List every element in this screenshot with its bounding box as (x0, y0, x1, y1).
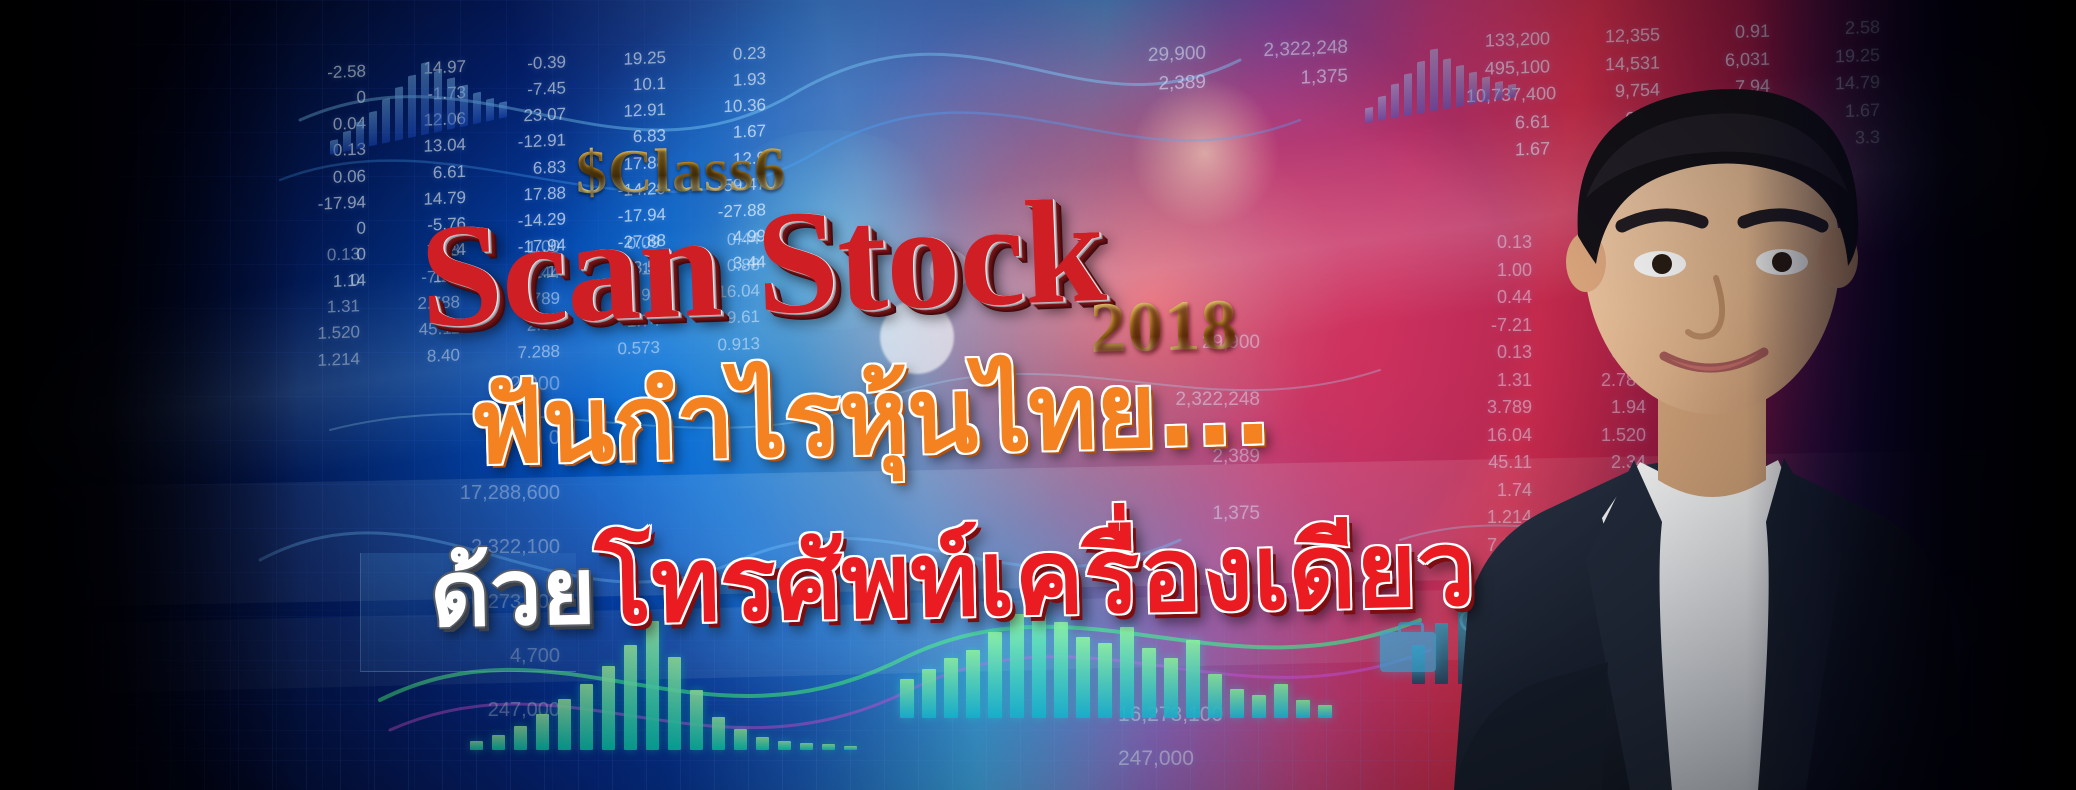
bar (395, 86, 403, 141)
quote-value: 1.94 (1558, 395, 1646, 421)
quote-value: 1.74 (586, 309, 660, 336)
bar (1252, 695, 1266, 718)
background-light-sweep (0, 0, 2076, 790)
bar (580, 684, 593, 750)
quote-value: -17.94 (592, 203, 666, 230)
quote-value: 1.67 (692, 120, 766, 147)
quote-value: 0.44 (486, 261, 560, 288)
quote-value: -59.47 (692, 172, 766, 199)
quote-value: 11.7 (1686, 129, 1770, 157)
quote-value: 7.288 (486, 339, 560, 366)
quote-value: 10.9 (392, 264, 466, 291)
quote-value: 7.94 (1686, 74, 1770, 102)
quote-value: 1.94 (586, 283, 660, 310)
bar (343, 130, 351, 152)
background-gradient (0, 0, 2076, 790)
bar (473, 92, 481, 125)
bar (1230, 689, 1244, 718)
quote-value: 29,900 (1110, 330, 1260, 357)
bar (1495, 81, 1503, 101)
quote-value: 3.789 (1444, 395, 1532, 421)
quote-value: 14.79 (1796, 70, 1880, 98)
quote-value: 1.67 (1796, 97, 1880, 125)
quote-value: 45.11 (386, 317, 460, 344)
bar (1318, 705, 1332, 718)
quote-value: -6.24 (392, 238, 466, 265)
course-code-title: $Class6 (575, 134, 786, 209)
quote-value: 16.04 (686, 279, 760, 306)
quote-value: -1.73 (392, 81, 466, 108)
quote-value: 0.913 (686, 331, 760, 358)
quote-value: 9.61 (686, 305, 760, 332)
quote-value: 10.1 (592, 72, 666, 99)
bar (966, 650, 980, 718)
bar (646, 621, 659, 750)
quote-value: 0.06 (292, 164, 366, 191)
quote-value: 0.88 (1558, 340, 1646, 366)
bar (558, 699, 571, 750)
bar (408, 74, 416, 138)
quote-value: 247,000 (1118, 744, 1328, 774)
quote-value: 2.34 (1558, 450, 1646, 476)
bar (668, 657, 681, 750)
quote-value: -7.21 (386, 265, 460, 292)
glow-blob-cyan (700, 130, 960, 330)
bokeh-circle-small (930, 250, 970, 290)
glow-blob-warm (1130, 78, 1280, 228)
quote-value: -27.88 (692, 198, 766, 225)
quote-value: 0 (286, 268, 360, 295)
quote-value: 14.79 (392, 185, 466, 212)
chart-ticker-histogram-top-right (1365, 27, 1516, 124)
bar (1186, 640, 1200, 718)
quote-value: 0.04 (292, 112, 366, 139)
bar (800, 743, 813, 751)
quote-value: 1.214 (1444, 505, 1532, 531)
quote-value: 0.91 (1686, 19, 1770, 47)
quote-value: 16,273,100 (1118, 700, 1328, 730)
quote-value: 6.61 (392, 159, 466, 186)
headline-thai-line2-main: โทรศัพท์เครื่องเดียว (594, 507, 1476, 647)
quote-value: 0.13 (286, 242, 360, 269)
vignette (0, 0, 2076, 790)
quote-value: 1.14 (492, 259, 566, 286)
background-grid (0, 0, 2076, 790)
quote-value: 0.44 (1444, 285, 1532, 311)
bar (1208, 674, 1222, 718)
bar (421, 62, 429, 135)
volume-figures-center-right: 29,9002,322,2482,3891,375 (1110, 330, 1260, 528)
bar (1142, 648, 1156, 718)
quote-value: -27.88 (592, 229, 666, 256)
bar (382, 98, 390, 143)
background-floor-grid (0, 460, 2076, 790)
quote-value: 0.573 (586, 335, 660, 362)
bar (1296, 700, 1310, 718)
bar (536, 714, 549, 750)
quote-value: 1.00 (1444, 258, 1532, 284)
quote-value: 19.25 (592, 46, 666, 73)
bar (486, 98, 494, 122)
bar (1164, 658, 1178, 718)
quote-value: 0 (292, 216, 366, 243)
bar (624, 645, 637, 750)
quote-value: 0.23 (692, 41, 766, 68)
quote-table-right: 133,20012,3550.912.58495,10014,5316,0311… (1466, 15, 1880, 165)
headline-thai-line1: ฟันกำไรหุ้นไทย... (469, 348, 1273, 487)
quote-value: -7.21 (1444, 313, 1532, 339)
bar (1098, 643, 1112, 718)
background-wave-lines (0, 0, 2076, 790)
bar (756, 737, 769, 751)
quote-value: 0 (292, 86, 366, 113)
quote-value: 12.9 (692, 146, 766, 173)
quote-value: 0 (1558, 285, 1646, 311)
bar (514, 726, 527, 750)
bar (602, 666, 615, 750)
quote-value: 19.25 (1796, 42, 1880, 70)
quote-value: 3.59 (592, 255, 666, 282)
quote-value: 1.74 (1444, 478, 1532, 504)
bar (1550, 620, 1563, 684)
quote-value: -14.29 (492, 207, 566, 234)
quote-value: 0.44 (686, 227, 760, 254)
quote-value: 3.789 (486, 287, 560, 314)
edge-fade-left (0, 0, 300, 790)
bar (1619, 616, 1632, 684)
quote-value: 12,355 (1576, 22, 1660, 50)
quote-value: 0.09 (1558, 258, 1646, 284)
bar (1435, 623, 1448, 684)
quote-value: 133,200 (1466, 26, 1550, 54)
bar (330, 139, 338, 155)
quote-value: 1.93 (692, 67, 766, 94)
quote-value: 10.36 (692, 93, 766, 120)
quote-value: 17,288,600 (330, 479, 560, 507)
bar (822, 744, 835, 750)
bar (1365, 107, 1373, 124)
bar (369, 111, 377, 147)
quote-table-left-lower: 0.137.131.000.090.440-7.210.440.130.881.… (286, 227, 760, 374)
quote-value: 1.67 (1466, 136, 1550, 164)
quote-value: 45.11 (1444, 450, 1532, 476)
quote-value: 0.09 (586, 231, 660, 258)
bar (1417, 61, 1425, 114)
quote-value: 1.31 (1444, 368, 1532, 394)
bar (470, 741, 483, 750)
quote-value: 2,322,248 (1232, 35, 1348, 67)
quote-value: 4.99 (692, 224, 766, 251)
quote-value: 14,531 (1576, 50, 1660, 78)
quote-value: 0.88 (686, 253, 760, 280)
quote-value: 16.04 (1444, 423, 1532, 449)
quote-value: -17.94 (292, 190, 366, 217)
headline-ribbon-upper (0, 448, 2076, 608)
title-block: $Class6 Scan Stock 2018 ฟันกำไรหุ้นไทย..… (0, 0, 2076, 790)
bar (356, 121, 364, 149)
bar (1456, 65, 1464, 107)
quote-value: -0.39 (492, 50, 566, 77)
quote-value: -12.91 (492, 129, 566, 156)
quote-value: 8.40 (386, 343, 460, 370)
gears-icon (1450, 600, 1536, 660)
quote-value: 1,375 (1232, 64, 1348, 96)
chart-ticker-histogram-top-left (330, 39, 507, 155)
quote-value: 0.13 (292, 138, 366, 165)
bar (499, 102, 507, 119)
quote-value: 8.40 (1558, 505, 1646, 531)
quote-value: 7.13 (1558, 230, 1646, 256)
bar (1482, 76, 1490, 103)
bar (492, 735, 505, 750)
quote-value: 29,900 (1090, 41, 1206, 73)
bar (1430, 49, 1438, 112)
volume-figures-top-center: 29,9002,322,2482,3891,375 (1090, 35, 1348, 102)
quote-value: 12.9 (1576, 133, 1660, 161)
quote-value: -5.76 (392, 212, 466, 239)
quote-value: 14.97 (392, 55, 466, 82)
main-title: Scan Stock (417, 177, 1107, 351)
bar (1274, 684, 1288, 718)
quote-value: 0.13 (586, 257, 660, 284)
bar (1404, 73, 1412, 116)
year-title: 2018 (1089, 283, 1239, 370)
quote-value: 12.06 (392, 107, 466, 134)
quote-value: 2.58 (1796, 15, 1880, 43)
bar (1596, 634, 1609, 684)
headline-thai-line2: ด้วยโทรศัพท์เครื่องเดียว (429, 509, 1477, 650)
quote-value: 0.913 (1444, 561, 1532, 587)
bar (1054, 622, 1068, 718)
quote-value: 6.61 (1466, 109, 1550, 137)
bar (1573, 605, 1586, 684)
globe-icon (1828, 586, 1950, 708)
quote-value: 1,375 (1110, 501, 1260, 528)
stock-course-banner: -2.5814.97-0.3919.250.230-1.73-7.4510.11… (0, 0, 2076, 790)
quote-value: 12.91 (592, 98, 666, 125)
quote-value: 7.288 (1444, 533, 1532, 559)
quote-value: 6.83 (592, 124, 666, 151)
bar (434, 70, 442, 133)
bar (690, 690, 703, 750)
quote-value: -7.45 (492, 76, 566, 103)
quote-value: 23.07 (492, 103, 566, 130)
briefcase-icon (1380, 632, 1436, 672)
quote-value: 10,737,400 (1466, 81, 1550, 109)
bar (1120, 627, 1134, 718)
bar (1010, 614, 1024, 718)
quote-value: 0 (330, 424, 560, 452)
bar (988, 632, 1002, 718)
quote-value: 495,100 (1466, 54, 1550, 82)
quote-value: 2,389 (1110, 444, 1260, 471)
quote-value: -2.58 (292, 59, 366, 86)
headline-ribbon-lower (0, 575, 2076, 696)
quote-value: 0.13 (1444, 230, 1532, 256)
quote-value: 1.00 (486, 235, 560, 262)
bar (900, 679, 914, 718)
bar (1443, 58, 1451, 110)
chart-volume-histogram-center (900, 588, 1332, 718)
quote-value: 6.83 (1576, 105, 1660, 133)
quote-value: 10.36 (1686, 101, 1770, 129)
quote-value: 247,000 (330, 696, 560, 724)
bar (944, 658, 958, 718)
chart-area-mini-panel (360, 553, 576, 672)
performance-chart-label: PERFORMANCE (1496, 701, 1624, 716)
bar (1391, 84, 1399, 119)
quote-table-mid-right: 0.137.131.000.090.440-7.210.440.130.881.… (1444, 230, 1646, 586)
quote-value: 9,754 (1576, 78, 1660, 106)
quote-value: 1.214 (286, 347, 360, 374)
bar (778, 741, 791, 750)
bar (712, 717, 725, 750)
quote-value: 17.88 (592, 150, 666, 177)
quote-value: -17.94 (492, 233, 566, 260)
volume-figures-bottom: 16,273,100247,00038,265,2003,888,600 (1118, 700, 1328, 790)
bar (844, 746, 857, 751)
quote-value: 13.04 (392, 133, 466, 160)
quote-value: 3.44 (692, 250, 766, 277)
quote-value: 7.13 (386, 238, 460, 265)
bar (734, 729, 747, 750)
bar (1378, 96, 1386, 121)
quote-value: 9.61 (1558, 478, 1646, 504)
quote-value: -14.29 (592, 176, 666, 203)
quote-value: 3.3 (1796, 125, 1880, 153)
bar (922, 669, 936, 718)
quote-value: 2.788 (1558, 368, 1646, 394)
quote-value: 1.14 (292, 268, 366, 295)
quote-value: 182,000 (330, 370, 560, 398)
quote-value: 2,389 (1090, 70, 1206, 102)
quote-value: 1.31 (286, 295, 360, 322)
quote-value: 2,322,248 (1110, 387, 1260, 414)
quote-value: 6.83 (492, 155, 566, 182)
quote-value: 0.44 (1558, 313, 1646, 339)
bokeh-circle-large (880, 300, 954, 374)
quote-value: 0.13 (1444, 340, 1532, 366)
quote-value: 2.788 (386, 291, 460, 318)
bar (1076, 637, 1090, 718)
bar (1508, 84, 1516, 98)
bar (460, 85, 468, 127)
quote-table-left: -2.5814.97-0.3919.250.230-1.73-7.4510.11… (292, 41, 766, 296)
quote-value: 6,031 (1686, 46, 1770, 74)
bar (447, 77, 455, 130)
quote-value: 0.573 (1558, 533, 1646, 559)
quote-value: 2.34 (486, 313, 560, 340)
bar (1032, 595, 1046, 719)
quote-value: 17.88 (492, 181, 566, 208)
quote-value: 0 (292, 242, 366, 269)
bar (1469, 71, 1477, 105)
quote-value: 1.520 (1558, 423, 1646, 449)
quote-value: 1.520 (286, 321, 360, 348)
